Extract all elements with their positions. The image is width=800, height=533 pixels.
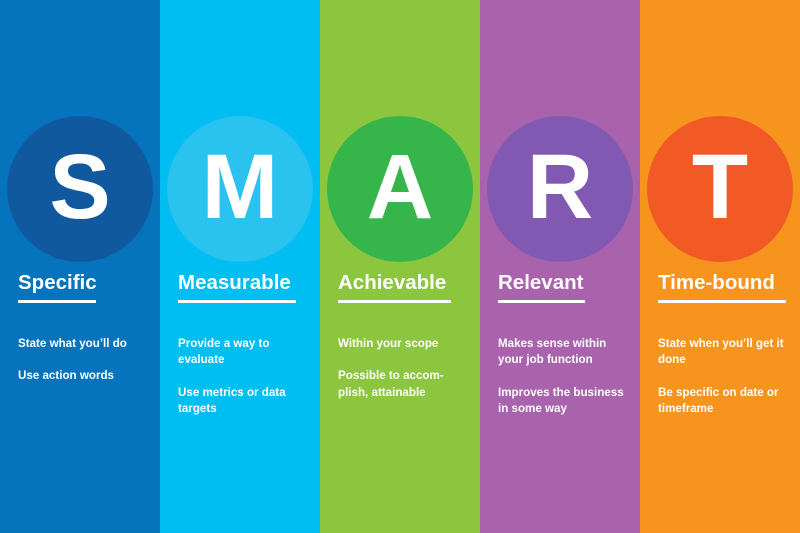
smart-column-relevant: RRelevantMakes sense within your job fun… (480, 0, 640, 533)
column-heading: Achievable (338, 272, 472, 294)
heading-underline (338, 300, 451, 303)
smart-column-measurable: MMeasurableProvide a way to evaluateUse … (160, 0, 320, 533)
heading-underline (498, 300, 585, 303)
column-heading: Time-bound (658, 272, 792, 294)
column-heading: Measurable (178, 272, 312, 294)
column-point: Provide a way to evaluate (178, 336, 308, 369)
letter-circle-wrap: A (320, 116, 480, 262)
letter-circle-icon: M (167, 116, 313, 262)
heading-underline (18, 300, 96, 303)
smart-goals-infographic: SSpecificState what you’ll doUse action … (0, 0, 800, 533)
letter-circle-icon: T (647, 116, 793, 262)
smart-column-time-bound: TTime-boundState when you’ll get it done… (640, 0, 800, 533)
column-points: Within your scopePossible to accom-plish… (338, 336, 468, 401)
smart-letter: T (692, 141, 748, 233)
letter-circle-icon: R (487, 116, 633, 262)
letter-circle-wrap: R (480, 116, 640, 262)
column-point: Use action words (18, 368, 148, 384)
smart-letter: S (49, 141, 110, 233)
column-points: State when you’ll get it doneBe specific… (658, 336, 788, 418)
smart-letter: R (527, 141, 593, 233)
column-point: Within your scope (338, 336, 468, 352)
smart-letter: M (202, 141, 279, 233)
column-point: State what you’ll do (18, 336, 148, 352)
column-points: Provide a way to evaluateUse metrics or … (178, 336, 308, 418)
letter-circle-wrap: S (0, 116, 160, 262)
letter-circle-icon: A (327, 116, 473, 262)
column-heading: Specific (18, 272, 152, 294)
column-heading: Relevant (498, 272, 632, 294)
column-point: Use metrics or data targets (178, 385, 308, 418)
column-points: Makes sense within your job functionImpr… (498, 336, 628, 418)
column-point: Improves the business in some way (498, 385, 628, 418)
column-points: State what you’ll doUse action words (18, 336, 148, 385)
heading-underline (178, 300, 296, 303)
column-point: State when you’ll get it done (658, 336, 788, 369)
column-point: Possible to accom-plish, attainable (338, 368, 468, 401)
letter-circle-wrap: M (160, 116, 320, 262)
letter-circle-wrap: T (640, 116, 800, 262)
column-point: Be specific on date or timeframe (658, 385, 788, 418)
letter-circle-icon: S (7, 116, 153, 262)
column-point: Makes sense within your job function (498, 336, 628, 369)
smart-letter: A (367, 141, 433, 233)
smart-column-achievable: AAchievableWithin your scopePossible to … (320, 0, 480, 533)
heading-underline (658, 300, 786, 303)
smart-column-specific: SSpecificState what you’ll doUse action … (0, 0, 160, 533)
